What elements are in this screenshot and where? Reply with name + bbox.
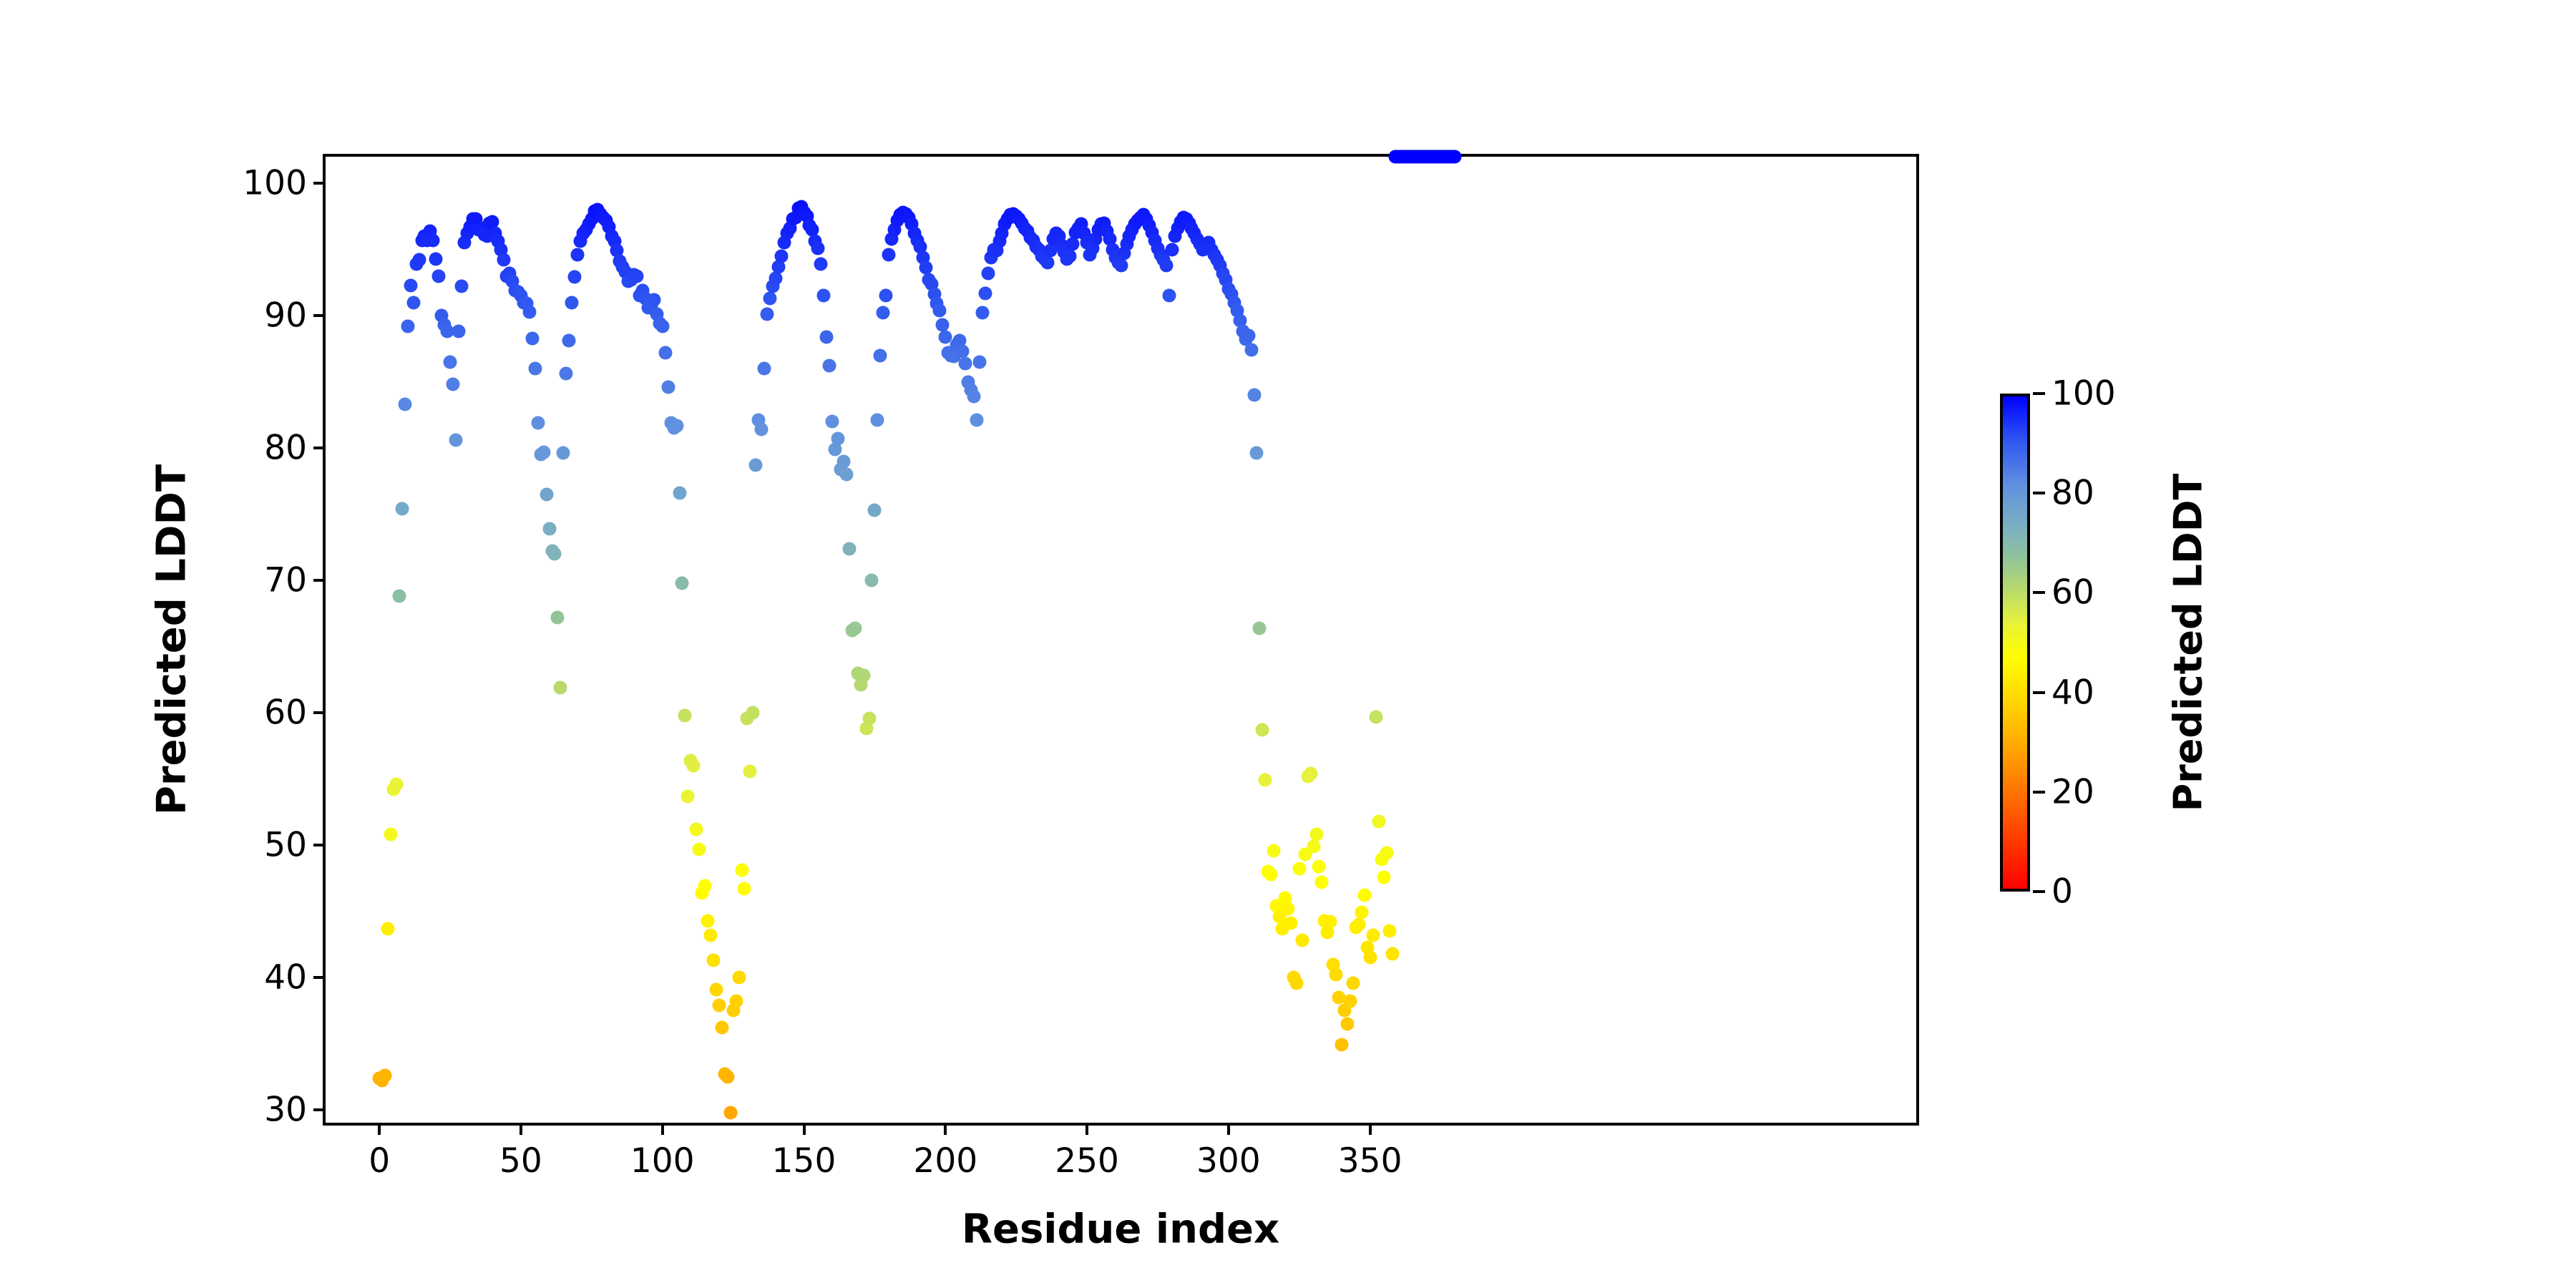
y-axis-tick	[313, 1108, 326, 1111]
x-axis-tick	[1369, 1123, 1372, 1135]
plot-area: 10090807060504030050100150200250300350	[323, 154, 1919, 1126]
y-axis-tick-label: 90	[264, 296, 307, 336]
scatter-point	[882, 248, 896, 261]
x-axis-tick-label: 150	[772, 1141, 836, 1181]
scatter-point	[1366, 928, 1380, 942]
scatter-point	[746, 706, 760, 720]
scatter-point	[542, 522, 556, 535]
scatter-point	[871, 414, 884, 427]
scatter-point	[1256, 723, 1269, 737]
colorbar-tick-label: 0	[2051, 872, 2073, 912]
scatter-point	[933, 303, 947, 317]
scatter-point	[1284, 917, 1297, 930]
scatter-point	[836, 454, 850, 468]
scatter-point	[975, 306, 989, 320]
scatter-point	[444, 355, 457, 369]
scatter-point	[497, 253, 511, 267]
scatter-point	[1352, 918, 1365, 932]
scatter-point	[565, 296, 579, 309]
scatter-point	[831, 432, 845, 446]
scatter-point	[661, 380, 675, 394]
scatter-point	[868, 504, 882, 517]
scatter-point	[1267, 844, 1281, 857]
scatter-point	[525, 331, 539, 345]
x-axis-tick-label: 350	[1338, 1141, 1402, 1181]
scatter-point	[755, 423, 769, 436]
scatter-point	[877, 306, 890, 320]
scatter-point	[981, 266, 995, 280]
scatter-point	[562, 334, 576, 348]
scatter-point	[426, 233, 440, 247]
scatter-point	[1063, 249, 1077, 263]
scatter-point	[749, 459, 763, 472]
scatter-point	[1307, 839, 1320, 853]
scatter-point	[721, 1070, 734, 1083]
colorbar-tick	[2033, 691, 2045, 694]
scatter-point	[568, 270, 582, 284]
scatter-point	[715, 1021, 728, 1035]
scatter-point	[540, 487, 553, 501]
scatter-point	[432, 269, 446, 283]
y-axis-label: Predicted LDDT	[149, 464, 195, 815]
figure-canvas: Predicted LDDT Residue index 10090807060…	[0, 0, 2576, 1288]
scatter-point	[395, 502, 409, 516]
scatter-point	[865, 574, 879, 587]
x-axis-tick-label: 0	[369, 1141, 390, 1181]
scatter-point	[447, 378, 460, 391]
x-axis-tick	[378, 1123, 381, 1135]
scatter-point	[379, 1069, 392, 1083]
scatter-point	[1289, 976, 1303, 990]
y-axis-tick-label: 80	[264, 429, 307, 468]
scatter-point	[687, 759, 701, 773]
scatter-point	[1369, 710, 1382, 723]
scatter-point	[670, 419, 683, 432]
scatter-point	[1315, 875, 1329, 889]
y-axis-tick	[313, 182, 326, 185]
scatter-point	[879, 289, 893, 303]
y-axis-tick-label: 60	[264, 693, 307, 733]
colorbar-tick	[2033, 890, 2045, 893]
scatter-point	[826, 415, 839, 429]
scatter-point	[978, 286, 992, 300]
y-axis-tick-label: 30	[264, 1091, 307, 1130]
scatter-point	[381, 922, 395, 935]
scatter-point	[557, 447, 570, 460]
y-axis-tick	[313, 579, 326, 582]
scatter-point	[1292, 862, 1306, 876]
x-axis-tick	[803, 1123, 806, 1135]
scatter-point	[1247, 389, 1261, 402]
scatter-point	[1295, 934, 1309, 947]
scatter-point	[1312, 859, 1326, 873]
scatter-point	[1330, 968, 1343, 982]
scatter-point	[701, 914, 715, 927]
scatter-point	[658, 346, 672, 359]
scatter-point	[531, 416, 545, 429]
scatter-point	[690, 822, 703, 836]
scatter-point	[862, 711, 876, 725]
scatter-point	[1346, 976, 1360, 990]
scatter-point	[1383, 924, 1397, 938]
scatter-point	[959, 356, 972, 370]
scatter-point	[1380, 847, 1394, 860]
scatter-point	[554, 680, 567, 694]
scatter-point	[698, 879, 712, 893]
scatter-point	[1344, 995, 1357, 1008]
scatter-point	[681, 789, 695, 803]
scatter-point	[758, 362, 771, 376]
scatter-points-layer	[326, 157, 1916, 1123]
scatter-point	[404, 278, 417, 292]
scatter-point	[454, 280, 468, 293]
scatter-point	[967, 389, 980, 403]
scatter-point	[712, 998, 726, 1012]
scatter-point	[429, 252, 443, 265]
scatter-point	[1386, 947, 1400, 960]
x-axis-tick	[661, 1123, 664, 1135]
scatter-point	[1114, 258, 1128, 272]
scatter-point	[839, 468, 853, 482]
x-axis-tick	[519, 1123, 522, 1135]
y-axis-tick-label: 70	[264, 561, 307, 600]
x-axis-tick-label: 250	[1055, 1141, 1119, 1181]
scatter-point	[743, 764, 757, 778]
scatter-point	[1264, 867, 1278, 881]
scatter-point	[1040, 256, 1054, 270]
scatter-point	[1448, 150, 1462, 164]
scatter-point	[1259, 774, 1272, 787]
scatter-point	[769, 272, 783, 286]
scatter-point	[1159, 258, 1173, 272]
scatter-point	[842, 542, 856, 555]
scatter-point	[449, 433, 463, 447]
scatter-point	[735, 864, 748, 877]
scatter-point	[970, 414, 983, 427]
scatter-point	[571, 248, 585, 261]
scatter-point	[452, 325, 465, 338]
scatter-point	[1363, 951, 1377, 965]
scatter-point	[709, 982, 723, 996]
y-axis-tick	[313, 711, 326, 714]
y-axis-tick-label: 40	[264, 958, 307, 997]
scatter-point	[857, 669, 870, 683]
scatter-point	[384, 828, 398, 841]
scatter-point	[647, 293, 660, 306]
scatter-point	[1335, 1038, 1349, 1052]
scatter-point	[412, 253, 426, 267]
scatter-point	[655, 319, 669, 333]
scatter-point	[820, 330, 834, 343]
scatter-point	[1253, 621, 1267, 635]
scatter-point	[1324, 915, 1337, 929]
x-axis-label: Residue index	[962, 1206, 1279, 1253]
scatter-point	[1377, 870, 1391, 884]
scatter-point	[401, 319, 414, 333]
scatter-point	[522, 305, 536, 318]
scatter-point	[723, 1106, 737, 1119]
colorbar-tick-label: 20	[2051, 772, 2094, 811]
x-axis-tick-label: 200	[913, 1141, 977, 1181]
scatter-point	[1341, 1017, 1355, 1030]
scatter-point	[630, 269, 644, 283]
scatter-point	[706, 954, 720, 967]
scatter-point	[874, 348, 887, 362]
scatter-point	[1250, 447, 1264, 460]
scatter-point	[1355, 906, 1368, 919]
scatter-point	[389, 778, 403, 791]
scatter-point	[406, 296, 420, 309]
colorbar-tick	[2033, 791, 2045, 794]
scatter-point	[678, 708, 692, 722]
colorbar-tick-label: 60	[2051, 573, 2094, 613]
scatter-point	[1357, 889, 1371, 902]
x-axis-tick	[1085, 1123, 1088, 1135]
y-axis-tick	[313, 844, 326, 847]
colorbar-tick-label: 100	[2051, 374, 2116, 414]
y-axis-tick-label: 100	[243, 164, 307, 203]
colorbar-gradient	[2000, 394, 2030, 892]
y-axis-tick-label: 50	[264, 826, 307, 865]
scatter-point	[1244, 343, 1258, 357]
scatter-point	[675, 576, 689, 590]
scatter-point	[673, 486, 686, 499]
x-axis-tick	[944, 1123, 947, 1135]
colorbar-tick-label: 80	[2051, 474, 2094, 513]
scatter-point	[763, 292, 777, 306]
colorbar-label: Predicted LDDT	[2166, 474, 2211, 812]
colorbar-tick	[2033, 591, 2045, 594]
scatter-point	[814, 257, 828, 270]
scatter-point	[537, 445, 550, 459]
scatter-point	[811, 241, 825, 255]
scatter-point	[528, 362, 542, 376]
scatter-point	[704, 928, 718, 942]
x-axis-tick-label: 300	[1196, 1141, 1261, 1181]
scatter-point	[817, 289, 831, 303]
x-axis-tick	[1227, 1123, 1230, 1135]
scatter-point	[1066, 238, 1080, 251]
scatter-point	[823, 359, 836, 373]
scatter-point	[732, 971, 746, 985]
scatter-point	[693, 842, 706, 856]
scatter-point	[1281, 902, 1294, 915]
y-axis-tick	[313, 976, 326, 979]
scatter-point	[548, 547, 562, 561]
scatter-point	[848, 621, 862, 635]
scatter-point	[560, 367, 573, 381]
scatter-point	[1309, 828, 1323, 841]
scatter-point	[729, 995, 743, 1008]
scatter-point	[1372, 814, 1385, 828]
scatter-point	[398, 398, 411, 411]
scatter-point	[1241, 328, 1255, 342]
scatter-point	[738, 882, 751, 896]
colorbar-tick	[2033, 392, 2045, 395]
colorbar-tick-label: 40	[2051, 673, 2094, 712]
x-axis-tick-label: 50	[499, 1141, 542, 1181]
scatter-point	[392, 590, 406, 603]
y-axis-tick	[313, 447, 326, 449]
colorbar-tick	[2033, 492, 2045, 494]
scatter-point	[551, 610, 565, 624]
scatter-point	[972, 355, 986, 369]
scatter-point	[1165, 243, 1179, 256]
x-axis-tick-label: 100	[630, 1141, 695, 1181]
scatter-point	[774, 249, 788, 263]
scatter-point	[1162, 289, 1176, 303]
scatter-point	[761, 308, 774, 321]
y-axis-tick	[313, 314, 326, 317]
scatter-point	[1304, 767, 1317, 781]
